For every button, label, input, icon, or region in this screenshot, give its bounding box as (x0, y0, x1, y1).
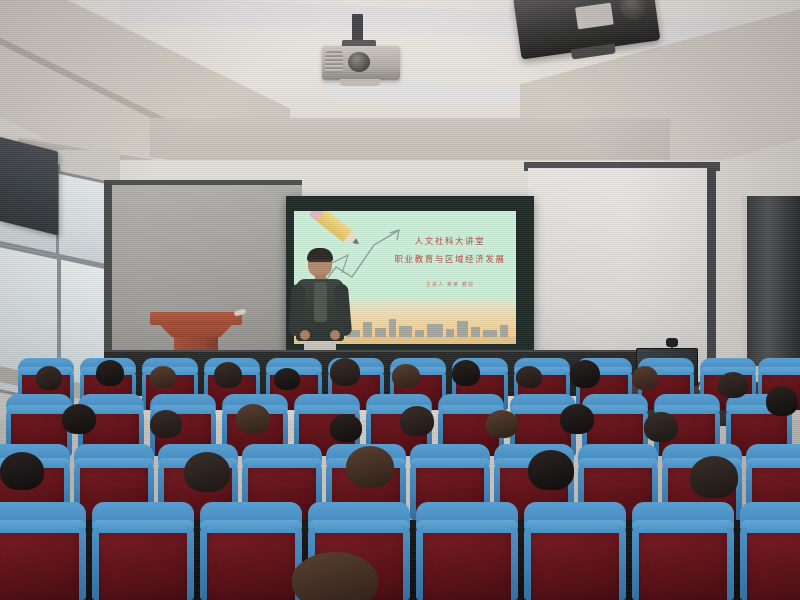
audience-member-head (486, 410, 518, 438)
audience-member-head (644, 412, 678, 442)
audience-member-head (570, 360, 600, 388)
skyline-building (427, 324, 443, 338)
audience-member-head (236, 404, 270, 434)
seat-side-right (619, 527, 626, 600)
seat-side-left (200, 527, 207, 600)
presenter-hand-right (330, 330, 340, 340)
seat-trim (6, 405, 72, 414)
auditorium-seat (740, 502, 800, 600)
audience-member-head (36, 366, 62, 390)
seat-trim (740, 520, 800, 534)
auditorium-seat (92, 502, 194, 600)
seat-side-left (410, 464, 416, 520)
audience-seating (0, 352, 800, 600)
slide-title: 人文社科大讲堂 职业教育与区域经济发展 (390, 235, 510, 266)
seat-trim (200, 520, 302, 534)
seat-side-left (632, 527, 639, 600)
seat-trim (746, 458, 800, 469)
seat-side-right (187, 527, 194, 600)
seat-back (96, 524, 190, 600)
audience-member-head (150, 410, 182, 438)
seat-trim (416, 520, 518, 534)
doorway-right[interactable] (742, 196, 800, 366)
seat-side-left (740, 527, 747, 600)
seat-back (204, 524, 298, 600)
seat-side-right (511, 527, 518, 600)
seat-trim (294, 405, 360, 414)
audience-member-head (274, 368, 300, 390)
seat-back (0, 524, 82, 600)
audience-member-head (214, 362, 242, 388)
audience-member-head (330, 358, 360, 386)
audience-member-head (330, 414, 362, 442)
audience-member-head (96, 360, 124, 386)
presenter-hand-left (300, 330, 310, 340)
seat-side-right (727, 527, 734, 600)
seat-side-left (416, 527, 423, 600)
seat-trim (92, 520, 194, 534)
seat-trim (578, 458, 658, 469)
seat-side-left (92, 527, 99, 600)
seat-back (420, 524, 514, 600)
seat-trim (410, 458, 490, 469)
slide-subtitle: 主讲人 某某 教授 (390, 281, 510, 288)
seat-trim (758, 367, 800, 374)
seat-trim (74, 458, 154, 469)
audience-member-head (528, 450, 574, 490)
audience-member-head (452, 360, 480, 386)
audience-member-head (690, 456, 738, 498)
audience-member-head (62, 404, 96, 434)
seat-side-right (403, 527, 410, 600)
projector-vent (325, 51, 343, 73)
skyline-building (389, 319, 396, 338)
audience-member-head (516, 366, 542, 388)
audience-member-head (632, 366, 658, 390)
audience-member-head (184, 452, 230, 492)
audience-member-head (150, 366, 176, 388)
auditorium-seat (524, 502, 626, 600)
slide-title-line1: 人文社科大讲堂 (390, 235, 510, 247)
audience-member-head (718, 372, 748, 398)
seat-side-left (524, 527, 531, 600)
audience-member-head (766, 386, 798, 416)
seat-back (636, 524, 730, 600)
audience-member-head (0, 452, 44, 490)
audience-member-head (292, 552, 378, 600)
seat-trim (308, 520, 410, 534)
audience-member-head (560, 404, 594, 434)
seat-side-right (79, 527, 86, 600)
seat-side-right (504, 372, 508, 410)
audience-member-head (346, 446, 394, 488)
auditorium-seat (632, 502, 734, 600)
seat-back (528, 524, 622, 600)
audience-member-head (392, 364, 420, 388)
window-pane (56, 170, 110, 267)
projector-foot (340, 79, 380, 86)
projector-lens-icon (348, 52, 370, 72)
slide-title-line2: 职业教育与区域经济发展 (390, 253, 510, 265)
podium-capital (158, 323, 234, 337)
ceiling (0, 0, 800, 185)
auditorium-seat (200, 502, 302, 600)
wall-speaker (0, 137, 58, 236)
skyline-building (457, 321, 468, 338)
seat-trim (524, 520, 626, 534)
seat-back (744, 524, 800, 600)
presenter-shirt (314, 282, 327, 322)
auditorium-seat (0, 502, 86, 600)
audience-member-head (400, 406, 434, 436)
seat-trim (632, 520, 734, 534)
seat-trim (0, 520, 86, 534)
glasses-icon (309, 260, 331, 266)
skyline-building (363, 322, 372, 338)
podium-top (150, 312, 242, 325)
ceiling-projector-main (322, 46, 400, 90)
auditorium-seat (416, 502, 518, 600)
wall-panel-right (528, 168, 716, 364)
seat-trim (242, 458, 322, 469)
lecture-hall-photo: 人文社科大讲堂 职业教育与区域经济发展 主讲人 某某 教授 (0, 0, 800, 600)
